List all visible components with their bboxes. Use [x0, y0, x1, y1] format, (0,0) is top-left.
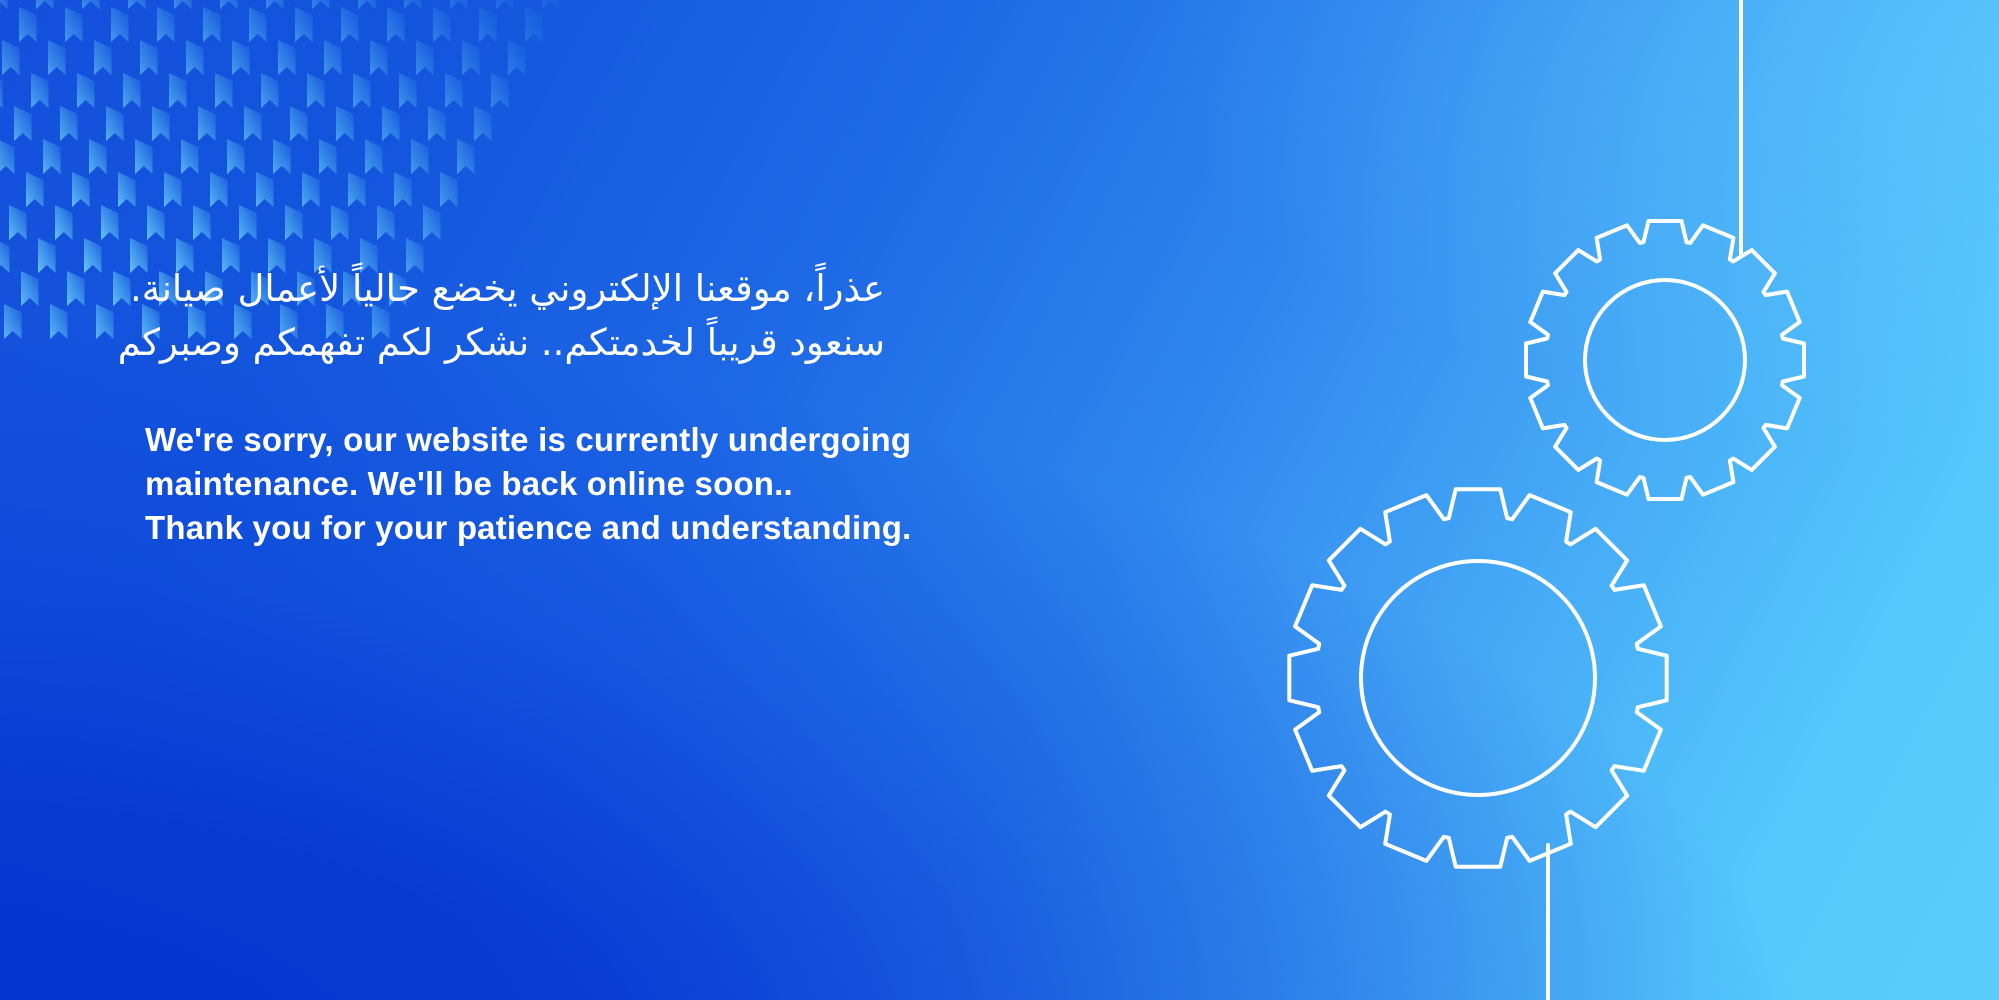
large-gear-body	[1289, 489, 1666, 866]
small-gear-body	[1526, 221, 1804, 499]
maintenance-page: عذراً، موقعنا الإلكتروني يخضع حالياً لأع…	[0, 0, 1999, 1000]
english-line-1: We're sorry, our website is currently un…	[145, 418, 1145, 462]
arabic-line-1: عذراً، موقعنا الإلكتروني يخضع حالياً لأع…	[145, 262, 885, 316]
arabic-message: عذراً، موقعنا الإلكتروني يخضع حالياً لأع…	[145, 262, 885, 370]
english-message: We're sorry, our website is currently un…	[145, 418, 1145, 550]
gears-illustration	[1199, 0, 1999, 1000]
arabic-line-2: سنعود قريباً لخدمتكم.. نشكر لكم تفهمكم و…	[145, 316, 885, 370]
english-line-2: maintenance. We'll be back online soon..	[145, 462, 1145, 506]
small-gear-hub	[1585, 280, 1745, 440]
english-line-3: Thank you for your patience and understa…	[145, 506, 1145, 550]
large-gear-hub	[1361, 561, 1595, 795]
maintenance-message: عذراً، موقعنا الإلكتروني يخضع حالياً لأع…	[145, 262, 1145, 550]
